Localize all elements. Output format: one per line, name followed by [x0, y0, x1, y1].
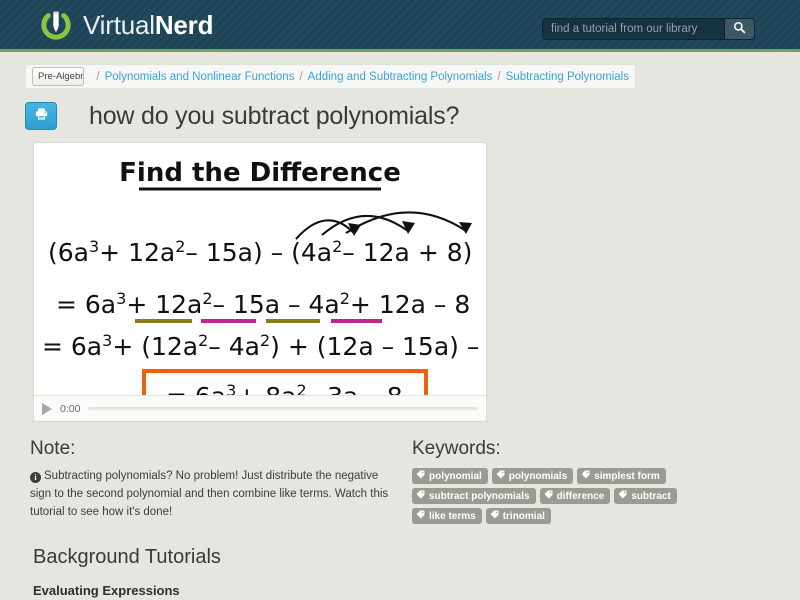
breadcrumb-separator: / [497, 71, 500, 83]
note-text: Subtracting polynomials? No problem! Jus… [30, 470, 388, 518]
title-row: how do you subtract polynomials? [25, 99, 800, 133]
play-icon[interactable] [42, 403, 52, 415]
video-player[interactable]: Find the Difference (6a3+ 12a2– 15a) – (… [33, 142, 487, 422]
tag-icon [416, 510, 425, 522]
note-body: iSubtracting polynomials? No problem! Ju… [30, 468, 390, 521]
whiteboard-frame: Find the Difference (6a3+ 12a2– 15a) – (… [34, 143, 486, 395]
background-tutorial-item[interactable]: Evaluating Expressions [33, 583, 800, 598]
keywords-section: Keywords: polynomial polynomials simples… [412, 438, 682, 524]
background-tutorials-section: Background Tutorials Evaluating Expressi… [33, 546, 800, 598]
keyword-tag-label: trinomial [503, 511, 545, 522]
print-button[interactable] [25, 102, 57, 130]
keyword-tag[interactable]: subtract [614, 488, 676, 504]
keyword-tag-list: polynomial polynomials simplest form sub… [412, 468, 682, 524]
logo-wordmark: VirtualNerd [83, 10, 213, 41]
subject-select[interactable]: Pre-Algebra ▼ [32, 67, 84, 86]
breadcrumb-separator: / [96, 71, 99, 83]
breadcrumb-separator: / [299, 71, 302, 83]
keyword-tag-label: polynomials [509, 471, 567, 482]
tag-icon [496, 470, 505, 482]
printer-icon [34, 107, 49, 126]
keyword-tag[interactable]: subtract polynomials [412, 488, 536, 504]
site-header: VirtualNerd [0, 0, 800, 52]
keyword-tag[interactable]: like terms [412, 508, 482, 524]
keyword-tag-label: subtract [631, 491, 670, 502]
keywords-heading: Keywords: [412, 438, 682, 460]
breadcrumb-item-1[interactable]: Adding and Subtracting Polynomials [308, 71, 493, 83]
svg-text:Find the Difference: Find the Difference [119, 158, 401, 188]
keyword-tag-label: subtract polynomials [429, 491, 530, 502]
note-section: Note: iSubtracting polynomials? No probl… [30, 438, 390, 524]
svg-text:(6a3+ 12a2– 15a) – (4a2– 12a +: (6a3+ 12a2– 15a) – (4a2– 12a + 8) [48, 237, 472, 267]
video-time: 0:00 [60, 403, 80, 415]
search-input[interactable] [543, 19, 724, 39]
video-scrubber[interactable] [88, 407, 478, 410]
breadcrumb-item-0[interactable]: Polynomials and Nonlinear Functions [105, 71, 295, 83]
keyword-tag[interactable]: difference [540, 488, 611, 504]
site-logo[interactable]: VirtualNerd [38, 7, 213, 43]
tag-icon [581, 470, 590, 482]
search-icon [733, 21, 746, 37]
keyword-tag-label: difference [557, 491, 605, 502]
logo-word-nerd: Nerd [155, 10, 213, 40]
search-box[interactable] [542, 18, 755, 40]
power-pencil-logo-icon [38, 7, 74, 43]
svg-text:= 6a3+ (12a2– 4a2) + (12a – 15: = 6a3+ (12a2– 4a2) + (12a – 15a) – 8 [42, 331, 486, 361]
keyword-tag[interactable]: polynomial [412, 468, 488, 484]
search-button[interactable] [724, 19, 754, 39]
tag-icon [416, 490, 425, 502]
subject-select-label: Pre-Algebra [33, 68, 84, 85]
keyword-tag-label: like terms [429, 511, 476, 522]
whiteboard-content: Find the Difference (6a3+ 12a2– 15a) – (… [34, 143, 486, 395]
keyword-tag[interactable]: polynomials [492, 468, 573, 484]
svg-text:= 6a3+ 12a2– 15a – 4a2+ 12a –: = 6a3+ 12a2– 15a – 4a2+ 12a – 8 [56, 289, 470, 319]
keyword-tag-label: polynomial [429, 471, 482, 482]
video-controls[interactable]: 0:00 [34, 395, 486, 421]
info-icon: i [30, 472, 41, 483]
svg-text:= 6a3+ 8a2– 3a – 8: = 6a3+ 8a2– 3a – 8 [166, 381, 403, 395]
tag-icon [490, 510, 499, 522]
note-heading: Note: [30, 438, 390, 460]
background-tutorials-heading: Background Tutorials [33, 546, 800, 569]
tag-icon [618, 490, 627, 502]
logo-word-virtual: Virtual [83, 10, 155, 40]
keyword-tag-label: simplest form [594, 471, 660, 482]
page-title: how do you subtract polynomials? [89, 102, 459, 131]
keyword-tag[interactable]: simplest form [577, 468, 666, 484]
note-keywords-row: Note: iSubtracting polynomials? No probl… [30, 438, 800, 524]
tag-icon [416, 470, 425, 482]
breadcrumb-item-2[interactable]: Subtracting Polynomials [506, 71, 629, 83]
breadcrumb: Pre-Algebra ▼ / Polynomials and Nonlinea… [25, 64, 636, 89]
keyword-tag[interactable]: trinomial [486, 508, 551, 524]
tag-icon [544, 490, 553, 502]
